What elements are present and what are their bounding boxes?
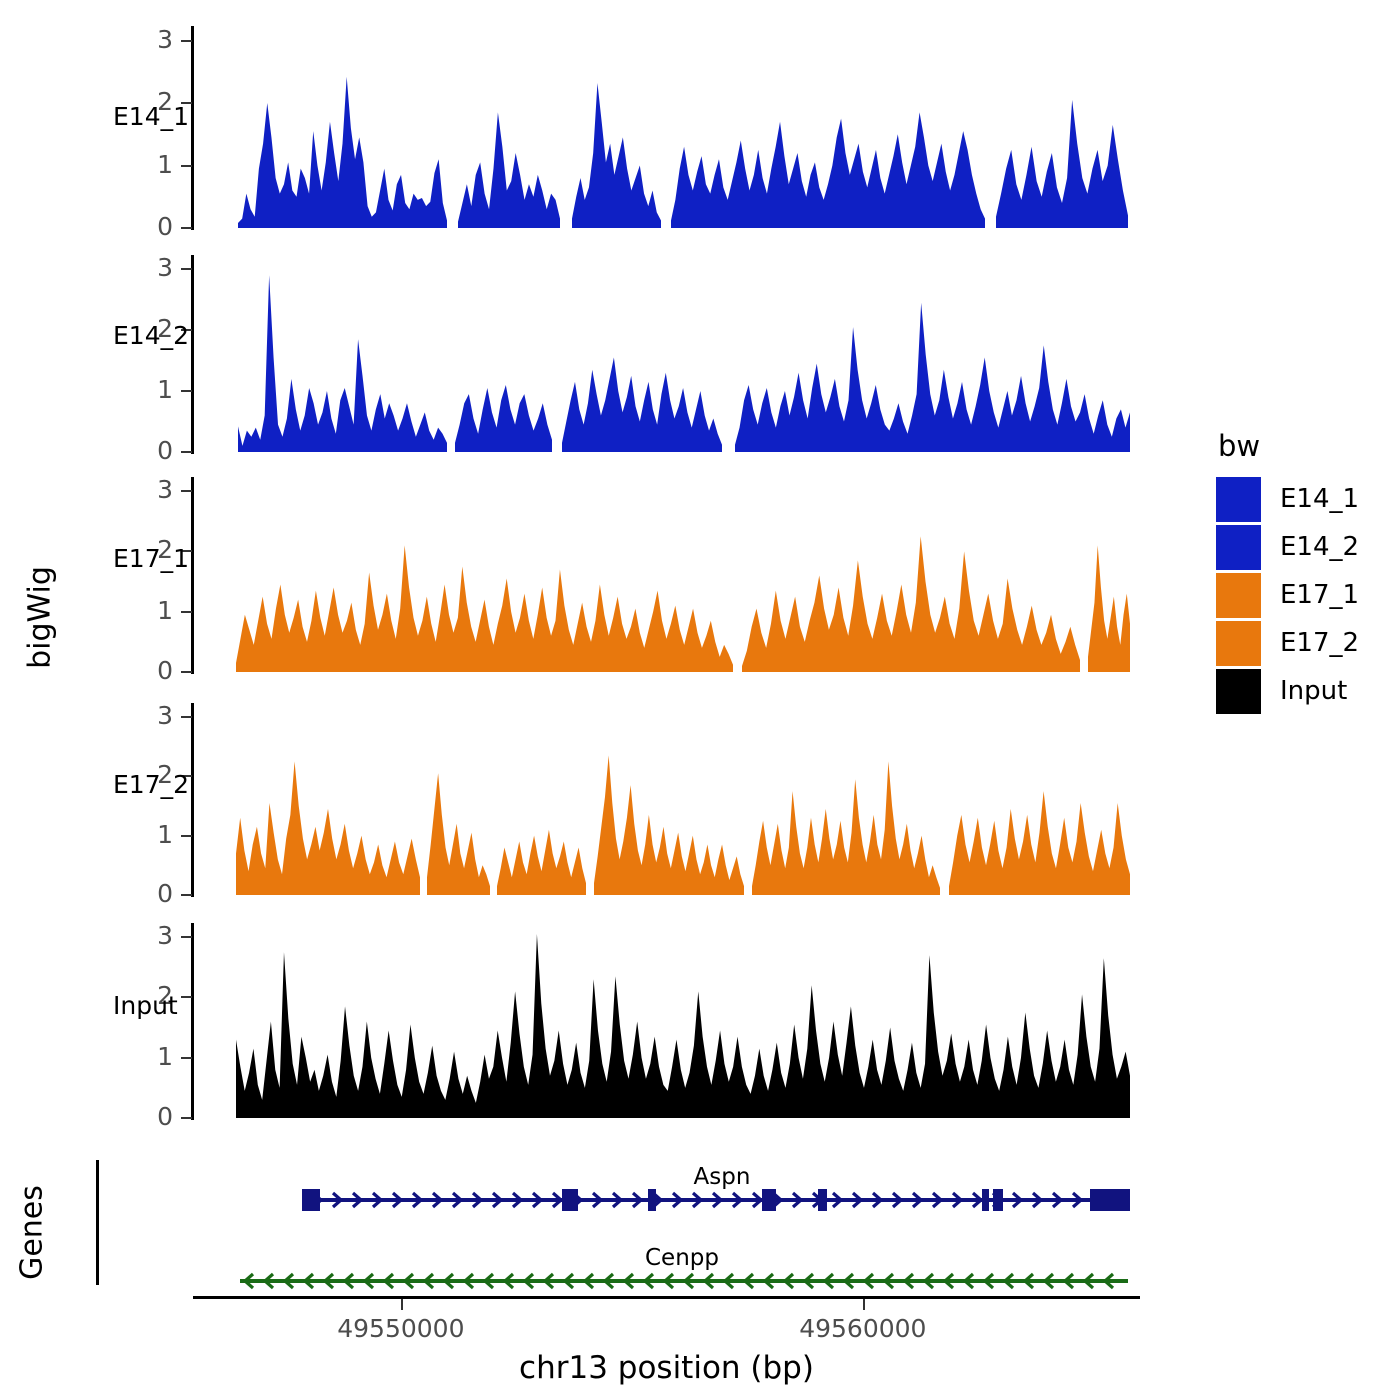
x-axis-title: chr13 position (bp) [193,1350,1140,1386]
signal-segment [562,358,722,452]
gene-label-cenpp: Cenpp [645,1245,719,1271]
legend-label: E17_2 [1280,628,1359,658]
signal-segment [752,761,940,895]
signal-segment [497,830,586,895]
gene-label-aspn: Aspn [694,1164,751,1190]
signal-segment [427,773,490,895]
signal-segment [236,761,420,895]
genes-svg: AspnCenpp [0,1150,1160,1310]
legend-key-swatch [1216,621,1261,666]
gene-exon-block [762,1189,776,1211]
signal-segment [594,755,744,895]
signal-segment [949,791,1130,895]
legend-item-input[interactable]: Input [1216,667,1391,715]
x-tick-label: 49560000 [799,1314,926,1343]
legend-label: E14_2 [1280,532,1359,562]
signal-track-e17_2 [0,702,1400,898]
signal-segment [238,275,447,452]
signal-track-input [0,922,1400,1121]
signal-segment [1088,545,1130,672]
legend-label: E14_1 [1280,484,1359,514]
signal-segment [236,934,1130,1118]
signal-track-e14_1 [0,25,1400,231]
gene-exon-block [1090,1189,1130,1211]
x-tick-label: 49550000 [337,1314,464,1343]
signal-segment [996,100,1128,228]
gene-cenpp[interactable]: Cenpp [240,1245,1128,1288]
genome-browser-figure: bigWig Genes 0123E14_10123E14_20123E17_1… [0,0,1400,1400]
legend-item-e17_2[interactable]: E17_2 [1216,619,1391,667]
signal-segment [455,385,552,452]
legend-item-e14_2[interactable]: E14_2 [1216,523,1391,571]
gene-exon-block [982,1189,989,1211]
x-tick [401,1299,403,1310]
x-axis-line [193,1296,1140,1299]
legend-label: Input [1280,676,1347,706]
legend-key-swatch [1216,525,1261,570]
x-tick [863,1299,865,1310]
gene-exon-block [302,1189,320,1211]
signal-segment [735,303,1130,452]
legend: bw E14_1E14_2E17_1E17_2Input [1216,432,1391,715]
legend-key-swatch [1216,669,1261,714]
signal-segment [236,545,733,672]
legend-label: E17_1 [1280,580,1359,610]
gene-aspn[interactable]: Aspn [302,1164,1130,1211]
gene-exon-block [993,1189,1003,1211]
legend-key-swatch [1216,477,1261,522]
legend-key-swatch [1216,573,1261,618]
signal-segment [458,112,560,228]
signal-segment [572,83,661,228]
signal-segment [742,536,1080,672]
signal-track-e14_2 [0,254,1400,455]
gene-exon-block [648,1189,656,1211]
signal-track-e17_1 [0,476,1400,675]
legend-item-e17_1[interactable]: E17_1 [1216,571,1391,619]
gene-exon-block [818,1189,827,1211]
legend-item-e14_1[interactable]: E14_1 [1216,475,1391,523]
signal-segment [238,77,447,228]
signal-segment [671,112,985,228]
legend-items: E14_1E14_2E17_1E17_2Input [1216,475,1391,715]
legend-title: bw [1218,432,1391,461]
genes-panel: AspnCenpp [0,1150,1160,1310]
gene-exon-block [562,1189,578,1211]
